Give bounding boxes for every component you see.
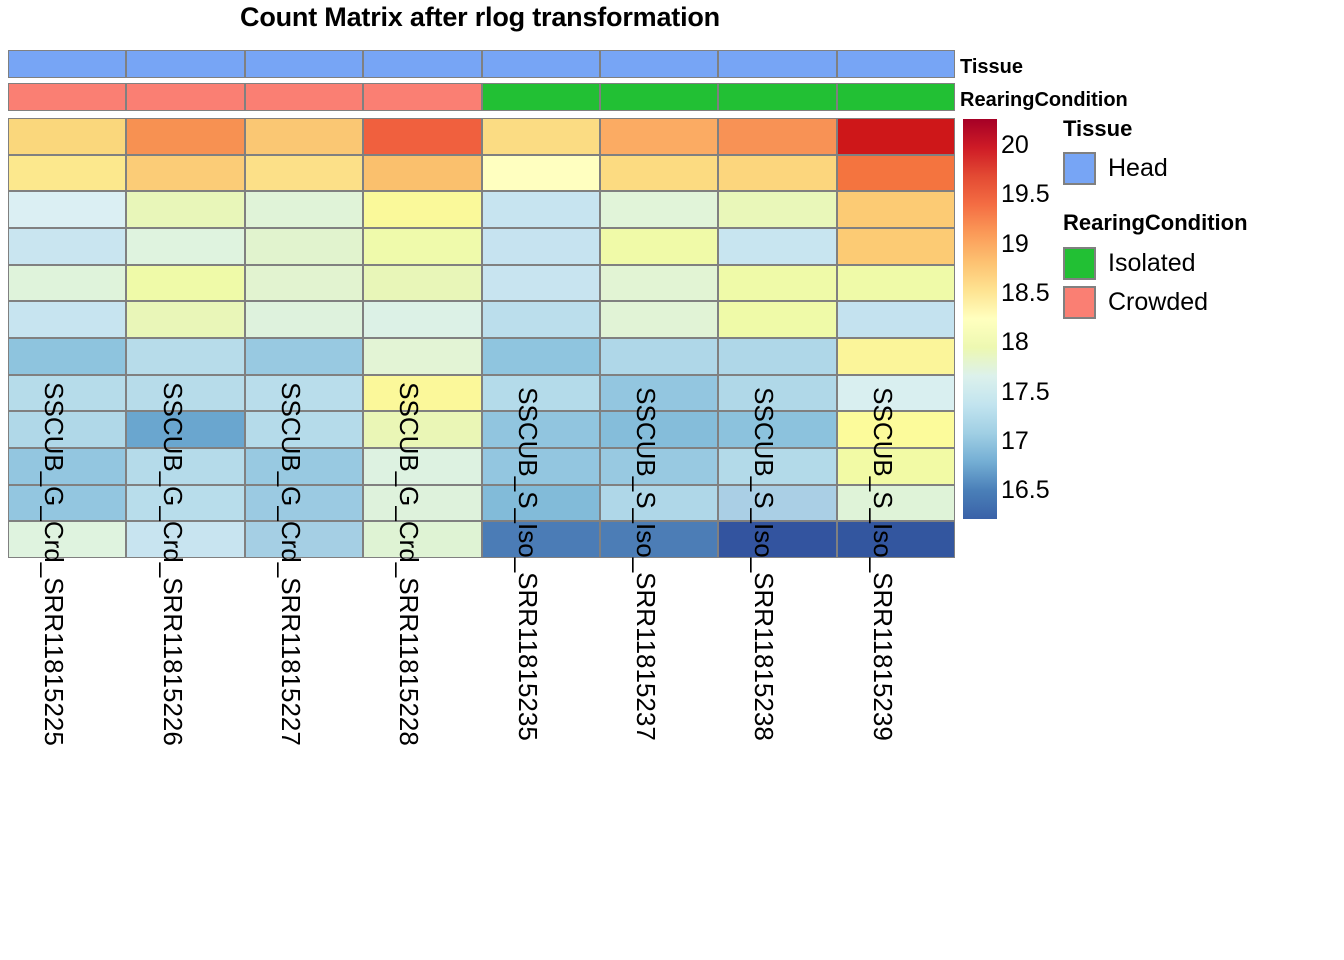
- column-label-slot: SSCUB_G_Crd_SRR11815227: [245, 560, 363, 956]
- column-label: SSCUB_S_Iso_SRR11815238: [751, 387, 777, 741]
- colorbar-tick-17: 17: [1001, 429, 1029, 454]
- legend-swatch-isolated: [1063, 247, 1096, 280]
- colorbar-tick-18: 18: [1001, 330, 1029, 355]
- colorbar-tick-19-5: 19.5: [1001, 182, 1050, 207]
- heatmap-cell: [126, 191, 244, 228]
- legend-entry-isolated[interactable]: Isolated: [1063, 247, 1196, 280]
- legend-swatch-head: [1063, 152, 1096, 185]
- heatmap-cell: [482, 338, 600, 375]
- legend-swatch-crowded: [1063, 286, 1096, 319]
- colorbar-tick-19: 19: [1001, 232, 1029, 257]
- column-label: SSCUB_S_Iso_SRR11815235: [515, 387, 541, 741]
- heatmap-cell: [837, 118, 955, 155]
- column-label-slot: SSCUB_S_Iso_SRR11815239: [837, 560, 955, 956]
- annotation-tissue-cell: [600, 50, 718, 78]
- annotation-rearing-cell: [482, 83, 600, 111]
- heatmap-cell: [8, 191, 126, 228]
- heatmap-cell: [126, 155, 244, 192]
- heatmap-cell: [837, 155, 955, 192]
- heatmap-cell: [718, 191, 836, 228]
- annotation-rearing-cell: [718, 83, 836, 111]
- legend-entry-crowded[interactable]: Crowded: [1063, 286, 1208, 319]
- heatmap-cell: [718, 118, 836, 155]
- heatmap-cell: [837, 338, 955, 375]
- annotation-label-rearing-condition: RearingCondition: [960, 90, 1128, 110]
- annotation-tissue-cell: [8, 50, 126, 78]
- heatmap-cell: [837, 265, 955, 302]
- legend-label-head: Head: [1108, 156, 1168, 181]
- heatmap-cell: [363, 265, 481, 302]
- heatmap-cell: [363, 191, 481, 228]
- heatmap-cell: [718, 265, 836, 302]
- heatmap-cell: [718, 228, 836, 265]
- column-label: SSCUB_G_Crd_SRR11815226: [160, 382, 186, 746]
- column-label-slot: SSCUB_S_Iso_SRR11815237: [600, 560, 718, 956]
- heatmap-cell: [245, 191, 363, 228]
- heatmap-cell: [600, 118, 718, 155]
- heatmap-cell: [363, 338, 481, 375]
- heatmap-cell: [718, 301, 836, 338]
- column-label-slot: SSCUB_S_Iso_SRR11815235: [482, 560, 600, 956]
- heatmap-cell: [718, 338, 836, 375]
- colorbar-tick-18-5: 18.5: [1001, 281, 1050, 306]
- column-label: SSCUB_G_Crd_SRR11815225: [41, 382, 67, 746]
- heatmap-cell: [837, 191, 955, 228]
- colorbar-gradient: [963, 119, 997, 519]
- legend-entry-head[interactable]: Head: [1063, 152, 1168, 185]
- colorbar: [963, 119, 997, 519]
- column-label-slot: SSCUB_G_Crd_SRR11815226: [126, 560, 244, 956]
- annotation-tissue-cell: [126, 50, 244, 78]
- heatmap-cell: [600, 301, 718, 338]
- heatmap-cell: [8, 338, 126, 375]
- page-title: Count Matrix after rlog transformation: [0, 2, 960, 33]
- heatmap-cell: [126, 265, 244, 302]
- column-label: SSCUB_G_Crd_SRR11815227: [278, 382, 304, 746]
- heatmap-cell: [245, 338, 363, 375]
- colorbar-tick-20: 20: [1001, 133, 1029, 158]
- column-label-slot: SSCUB_G_Crd_SRR11815228: [363, 560, 481, 956]
- heatmap-cell: [126, 118, 244, 155]
- annotation-rearing-cell: [837, 83, 955, 111]
- heatmap-cell: [482, 155, 600, 192]
- legend-title-tissue: Tissue: [1063, 118, 1132, 140]
- heatmap-cell: [482, 191, 600, 228]
- heatmap-cell: [126, 228, 244, 265]
- heatmap-cell: [600, 338, 718, 375]
- legend-title-rearing-condition: RearingCondition: [1063, 212, 1248, 234]
- annotation-tissue-cell: [482, 50, 600, 78]
- annotation-rearing-cell: [8, 83, 126, 111]
- heatmap-cell: [363, 118, 481, 155]
- heatmap-cell: [600, 228, 718, 265]
- annotation-rearing-cell: [600, 83, 718, 111]
- legend-label-crowded: Crowded: [1108, 290, 1208, 315]
- heatmap-cell: [245, 301, 363, 338]
- heatmap-cell: [245, 118, 363, 155]
- heatmap-cell: [600, 265, 718, 302]
- heatmap-cell: [600, 155, 718, 192]
- heatmap-cell: [8, 118, 126, 155]
- annotation-rearing-cell: [363, 83, 481, 111]
- heatmap-cell: [8, 228, 126, 265]
- heatmap-cell: [718, 155, 836, 192]
- heatmap-cell: [8, 265, 126, 302]
- heatmap-cell: [8, 155, 126, 192]
- heatmap-cell: [245, 155, 363, 192]
- annotation-row-tissue: [8, 50, 955, 78]
- annotation-row-rearing-condition: [8, 83, 955, 111]
- column-label: SSCUB_G_Crd_SRR11815228: [396, 382, 422, 746]
- annotation-tissue-cell: [363, 50, 481, 78]
- colorbar-tick-17-5: 17.5: [1001, 380, 1050, 405]
- annotation-label-tissue: Tissue: [960, 57, 1023, 77]
- heatmap-cell: [482, 265, 600, 302]
- heatmap-cell: [482, 301, 600, 338]
- heatmap-cell: [482, 118, 600, 155]
- heatmap-grid: [8, 118, 955, 558]
- heatmap-cell: [126, 301, 244, 338]
- heatmap-cell: [837, 301, 955, 338]
- column-label: SSCUB_S_Iso_SRR11815237: [633, 387, 659, 741]
- heatmap-cell: [363, 155, 481, 192]
- heatmap-cell: [245, 228, 363, 265]
- heatmap-cell: [8, 301, 126, 338]
- heatmap-cell: [837, 228, 955, 265]
- heatmap-cell: [482, 228, 600, 265]
- annotation-rearing-cell: [245, 83, 363, 111]
- heatmap-cell: [126, 338, 244, 375]
- heatmap-cell: [363, 301, 481, 338]
- heatmap-cell: [245, 265, 363, 302]
- annotation-rearing-cell: [126, 83, 244, 111]
- column-axis-labels: SSCUB_G_Crd_SRR11815225SSCUB_G_Crd_SRR11…: [8, 560, 955, 956]
- heatmap-cell: [600, 191, 718, 228]
- annotation-tissue-cell: [718, 50, 836, 78]
- heatmap-cell: [363, 228, 481, 265]
- annotation-tissue-cell: [245, 50, 363, 78]
- colorbar-tick-16-5: 16.5: [1001, 478, 1050, 503]
- column-label-slot: SSCUB_G_Crd_SRR11815225: [8, 560, 126, 956]
- legend-label-isolated: Isolated: [1108, 251, 1196, 276]
- column-label: SSCUB_S_Iso_SRR11815239: [870, 387, 896, 741]
- column-label-slot: SSCUB_S_Iso_SRR11815238: [718, 560, 836, 956]
- annotation-tissue-cell: [837, 50, 955, 78]
